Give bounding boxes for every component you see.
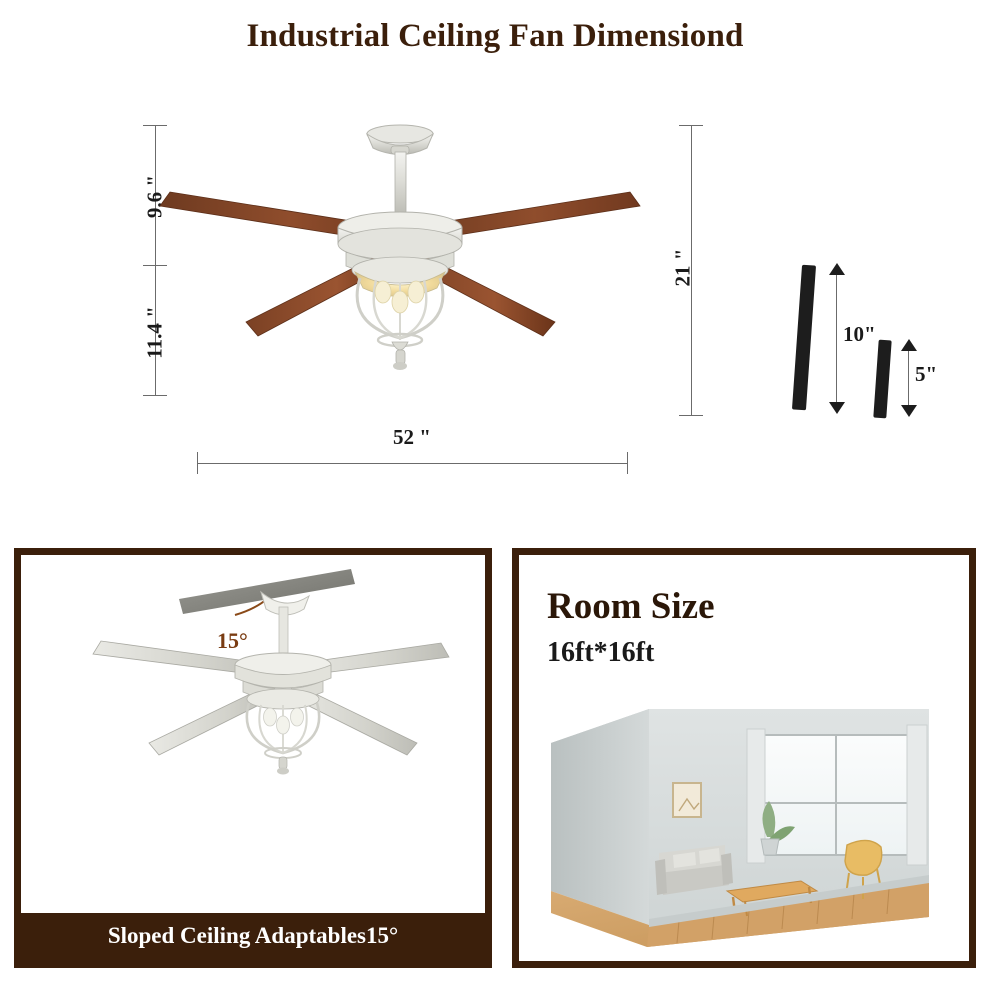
- sloped-ceiling-caption: Sloped Ceiling Adaptables15°: [21, 913, 485, 961]
- total-height-tick-bottom: [679, 415, 703, 416]
- arrow-up-icon-10: [827, 263, 847, 277]
- downrod-10-arrow-line: [836, 270, 837, 405]
- arrow-up-icon-5: [899, 339, 919, 353]
- width-dimension-axis: [197, 463, 627, 464]
- dimension-label-21: 21 ": [671, 218, 696, 318]
- arrow-down-icon-5: [899, 403, 919, 417]
- room-illustration: [529, 685, 969, 955]
- sloped-light-kit: [247, 689, 319, 775]
- ceiling-fan-illustration: [150, 110, 650, 430]
- width-tick-right: [627, 452, 628, 474]
- dimension-label-5in: 5": [915, 362, 937, 387]
- fan-canopy: [367, 125, 433, 155]
- arrow-down-icon-10: [827, 400, 847, 414]
- sloped-ceiling-illustration: [21, 557, 485, 897]
- width-tick-left: [197, 452, 198, 474]
- page-root: Industrial Ceiling Fan Dimensiond 9.6 " …: [0, 0, 990, 984]
- downrod-10in: [792, 265, 816, 411]
- room-size-title: Room Size: [547, 585, 715, 628]
- curtain-right: [907, 725, 927, 865]
- sloped-downrod: [279, 607, 288, 653]
- sloped-ceiling-panel: 15° Sloped Ceiling Adaptables15°: [14, 548, 492, 968]
- downrod-5in: [873, 340, 891, 419]
- top-dimension-diagram: 9.6 " 11.4 " 52 " 21 " 10" 5": [0, 100, 990, 500]
- room-size-panel: Room Size 16ft*16ft: [512, 548, 976, 968]
- dimension-label-10in: 10": [843, 322, 876, 347]
- page-title: Industrial Ceiling Fan Dimensiond: [0, 18, 990, 55]
- room-size-value: 16ft*16ft: [547, 637, 654, 669]
- total-height-tick-top: [679, 125, 703, 126]
- fan-downrod: [395, 152, 406, 218]
- room-left-wall: [551, 709, 649, 925]
- downrod-5-arrow-line: [908, 346, 909, 408]
- fan-light-kit: [352, 257, 448, 370]
- sloped-angle-label: 15°: [217, 628, 248, 654]
